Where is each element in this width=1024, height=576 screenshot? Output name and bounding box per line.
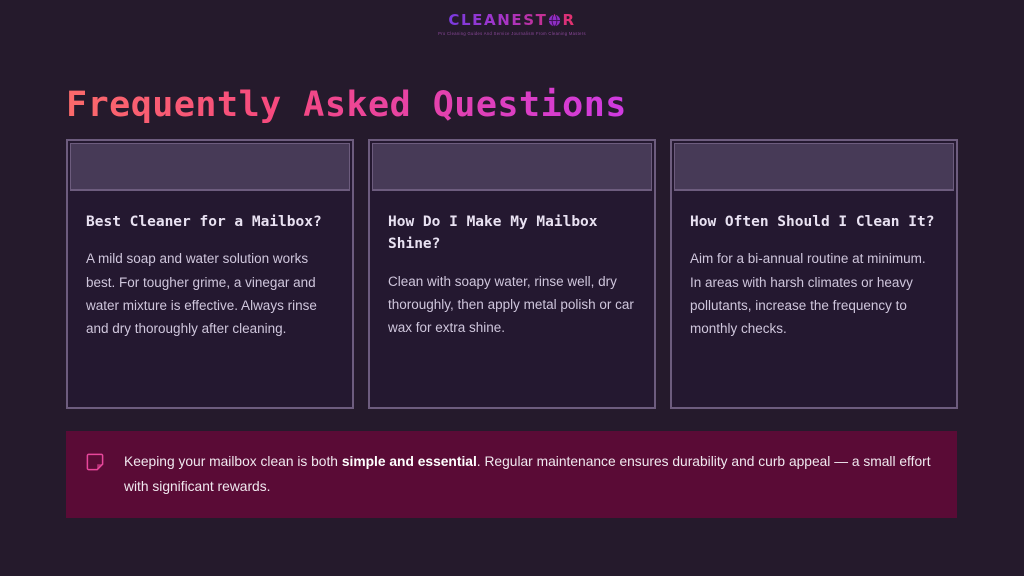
faq-card-list: Best Cleaner for a Mailbox? A mild soap … xyxy=(66,139,958,409)
summary-banner: Keeping your mailbox clean is both simpl… xyxy=(66,431,957,518)
faq-answer: Aim for a bi-annual routine at minimum. … xyxy=(690,247,938,340)
logo-wordmark: CLEANEST R xyxy=(448,13,575,28)
faq-slide: CLEANEST R Pro Cleaning Guides And Servi… xyxy=(0,0,1024,576)
faq-card[interactable]: How Often Should I Clean It? Aim for a b… xyxy=(670,139,958,409)
logo-text-primary: CLEANEST xyxy=(448,13,547,28)
globe-icon xyxy=(548,14,561,27)
summary-text-emphasis: simple and essential xyxy=(342,454,477,469)
faq-card-body: Best Cleaner for a Mailbox? A mild soap … xyxy=(68,191,352,356)
brand-logo[interactable]: CLEANEST R Pro Cleaning Guides And Servi… xyxy=(0,13,1024,36)
note-icon xyxy=(86,453,104,471)
faq-question: How Often Should I Clean It? xyxy=(690,211,938,233)
faq-card-header xyxy=(70,143,350,191)
summary-text-lead: Keeping your mailbox clean is both xyxy=(124,454,342,469)
logo-tagline: Pro Cleaning Guides And Service Journali… xyxy=(438,31,586,36)
faq-card[interactable]: Best Cleaner for a Mailbox? A mild soap … xyxy=(66,139,354,409)
faq-answer: Clean with soapy water, rinse well, dry … xyxy=(388,270,636,340)
faq-card[interactable]: How Do I Make My Mailbox Shine? Clean wi… xyxy=(368,139,656,409)
faq-card-body: How Do I Make My Mailbox Shine? Clean wi… xyxy=(370,191,654,356)
page-title: Frequently Asked Questions xyxy=(66,85,627,125)
faq-card-header xyxy=(372,143,652,191)
faq-question: Best Cleaner for a Mailbox? xyxy=(86,211,334,233)
faq-answer: A mild soap and water solution works bes… xyxy=(86,247,334,340)
summary-text: Keeping your mailbox clean is both simpl… xyxy=(124,450,933,499)
faq-card-body: How Often Should I Clean It? Aim for a b… xyxy=(672,191,956,356)
faq-card-header xyxy=(674,143,954,191)
faq-question: How Do I Make My Mailbox Shine? xyxy=(388,211,636,256)
logo-text-secondary: R xyxy=(562,13,575,28)
